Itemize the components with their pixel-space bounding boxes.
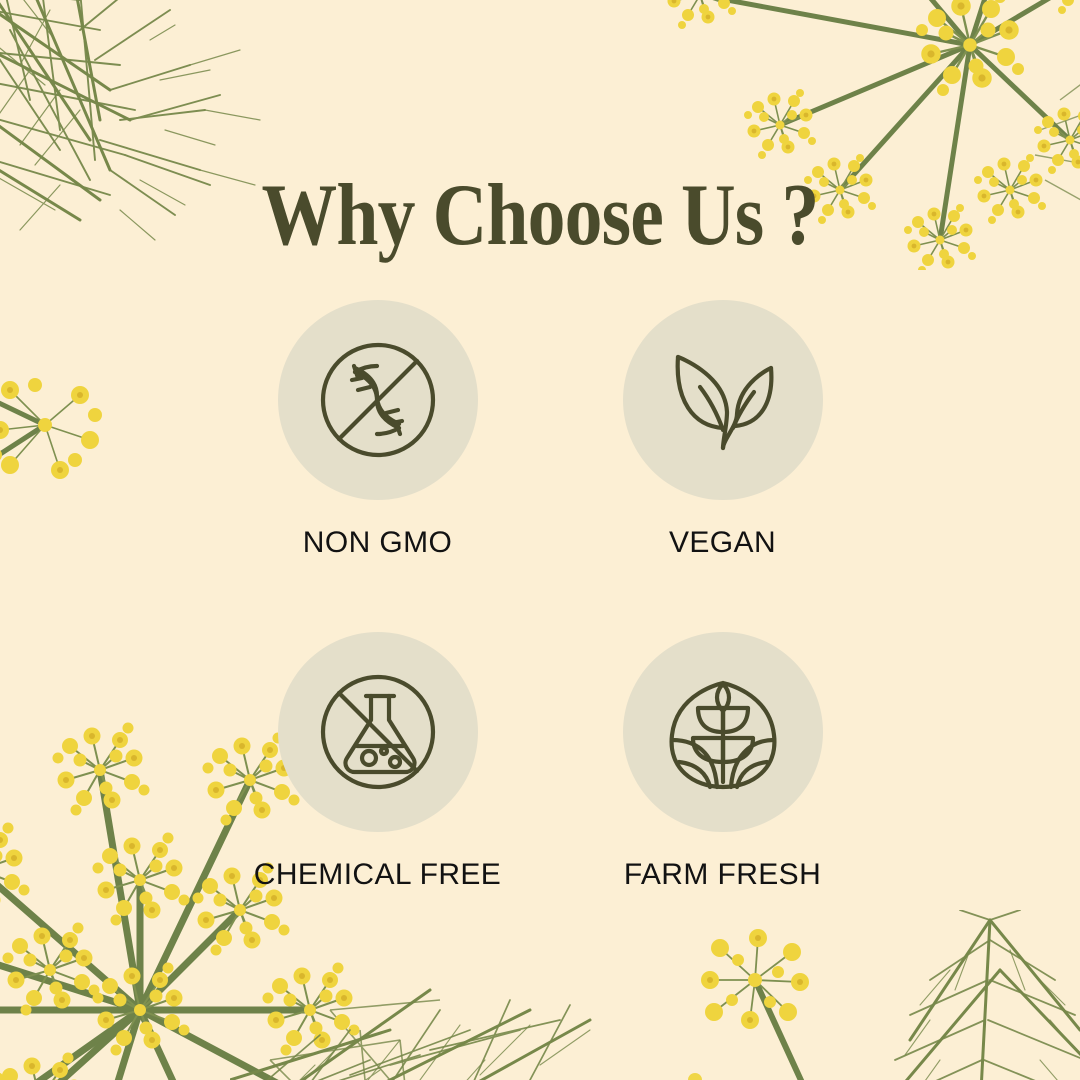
fennel-bloom-bottom-right-icon bbox=[680, 920, 880, 1080]
feature-label: VEGAN bbox=[669, 526, 776, 560]
badge-vegan bbox=[623, 300, 823, 500]
badge-farm-fresh bbox=[623, 632, 823, 832]
feature-chemical-free[interactable]: CHEMICAL FREE bbox=[205, 632, 550, 892]
why-choose-us-poster: Why Choose Us ? bbox=[0, 0, 1080, 1080]
feature-label: CHEMICAL FREE bbox=[254, 858, 501, 892]
feature-label: NON GMO bbox=[303, 526, 452, 560]
fennel-frond-bottom-middle-icon bbox=[230, 900, 610, 1080]
fennel-frond-bottom-right-icon bbox=[870, 910, 1080, 1080]
leaves-icon bbox=[653, 330, 793, 470]
farm-field-wheat-icon bbox=[653, 662, 793, 802]
no-gmo-icon bbox=[308, 330, 448, 470]
feature-grid: NON GMO VEGAN bbox=[205, 300, 895, 892]
badge-non-gmo bbox=[278, 300, 478, 500]
feature-label: FARM FRESH bbox=[624, 858, 821, 892]
fennel-bloom-left-middle-icon bbox=[0, 330, 130, 510]
no-chemicals-flask-icon bbox=[308, 662, 448, 802]
feature-vegan[interactable]: VEGAN bbox=[550, 300, 895, 560]
feature-farm-fresh[interactable]: FARM FRESH bbox=[550, 632, 895, 892]
badge-chemical-free bbox=[278, 632, 478, 832]
page-title: Why Choose Us ? bbox=[76, 172, 1005, 260]
feature-non-gmo[interactable]: NON GMO bbox=[205, 300, 550, 560]
